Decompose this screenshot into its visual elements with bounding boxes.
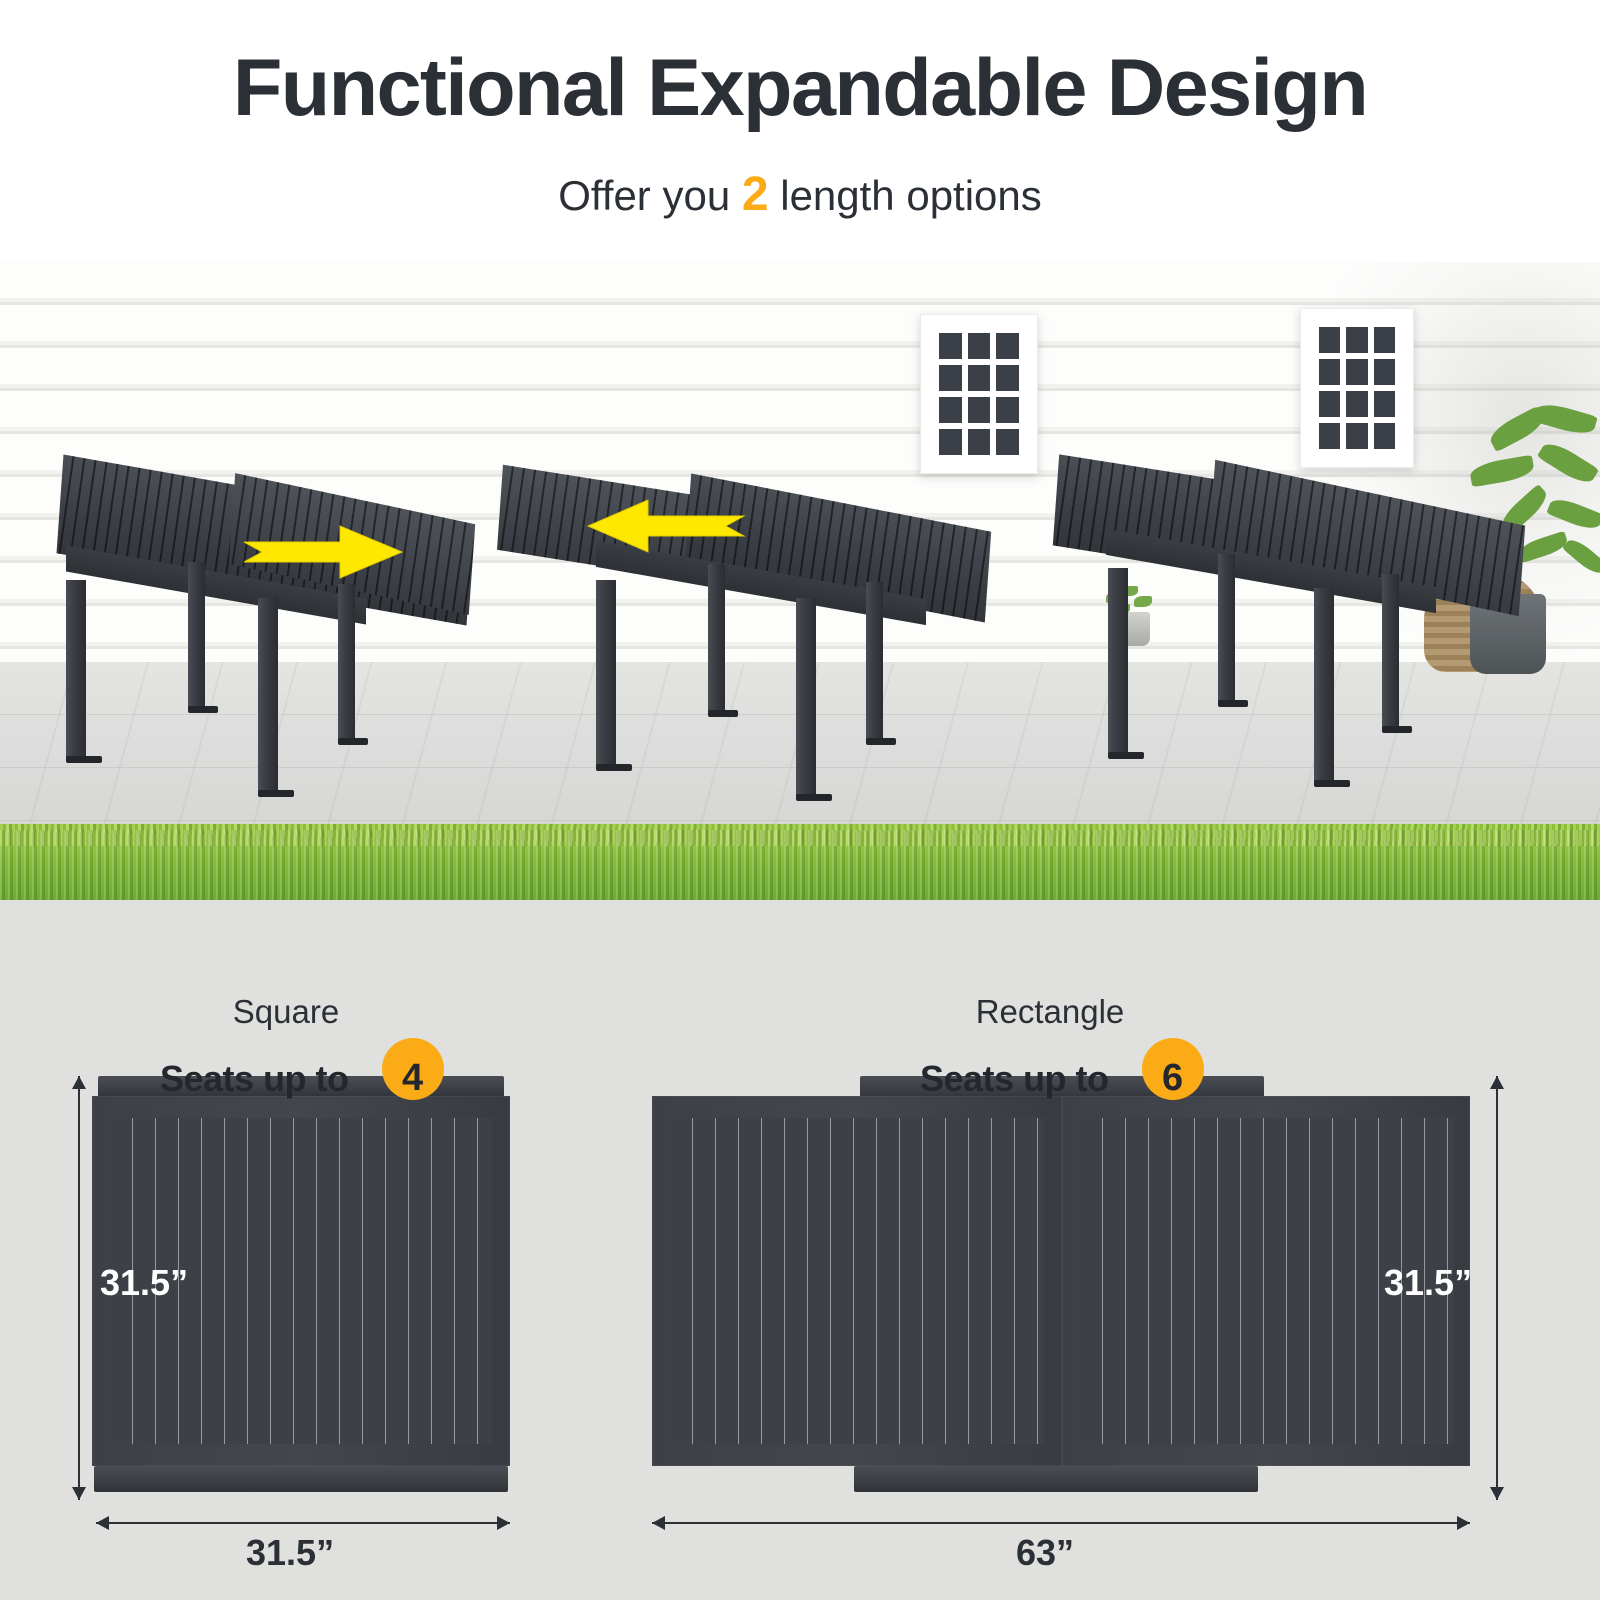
square-depth-arrow (72, 1076, 86, 1500)
infographic-page: Functional Expandable Design Offer you 2… (0, 0, 1600, 1600)
table3-leg-back-right (1382, 574, 1399, 730)
page-subtitle: Offer you 2 length options (0, 170, 1600, 221)
table1-foot-front-right (258, 790, 294, 797)
table2-foot-back-right (866, 738, 896, 745)
table2-leg-back-right (866, 582, 883, 742)
table2-leg-back-left (708, 564, 725, 714)
table2-foot-back-left (708, 710, 738, 717)
square-seats-text: Seats up to (160, 1058, 349, 1099)
table1-leg-back-left (188, 562, 205, 710)
grass-strip (0, 830, 1600, 900)
rectangle-slats-left (670, 1118, 1044, 1444)
rectangle-width-arrow (652, 1516, 1470, 1530)
rectangle-depth-arrow (1490, 1076, 1504, 1500)
rectangle-depth-label: 31.5” (1384, 1262, 1472, 1304)
square-width-arrow (96, 1516, 510, 1530)
table2-foot-front-right (796, 794, 832, 801)
rectangle-width-label: 63” (1016, 1532, 1074, 1574)
subtitle-prefix: Offer you (558, 172, 742, 219)
rectangle-seats-count: 6 (1162, 1057, 1183, 1100)
table1-foot-back-right (338, 738, 368, 745)
table3-foot-back-right (1382, 726, 1412, 733)
product-photo (0, 262, 1600, 900)
arrow-left-icon (586, 496, 746, 558)
table3-leg-front-left (1108, 568, 1128, 756)
square-seats-badge: Seats up to 4 (160, 1058, 349, 1100)
table3-foot-front-right (1314, 780, 1350, 787)
rectangle-tabletop-diagram (652, 1076, 1470, 1500)
rectangle-slat-area-left (670, 1118, 1044, 1444)
dimensions-section: Square Seats up to 4 31.5” 31.5” Rectang… (0, 900, 1600, 1600)
square-depth-label: 31.5” (100, 1262, 188, 1304)
table3-leg-back-left (1218, 554, 1235, 704)
table2-leg-front-left (596, 580, 616, 768)
rectangle-column-label: Rectangle (890, 993, 1210, 1031)
square-seats-count: 4 (402, 1057, 423, 1100)
table1-leg-front-right (258, 598, 278, 794)
window-right-panes (1310, 318, 1404, 458)
square-bottom-rail (94, 1466, 508, 1492)
table3-foot-back-left (1218, 700, 1248, 707)
table2-leg-front-right (796, 598, 816, 798)
rectangle-seats-badge: Seats up to 6 (920, 1058, 1109, 1100)
table3-foot-front-left (1108, 752, 1144, 759)
table3-leg-front-right (1314, 588, 1334, 784)
table1-leg-front-left (66, 580, 86, 760)
table2-foot-front-left (596, 764, 632, 771)
subtitle-highlight-number: 2 (742, 168, 769, 221)
subtitle-suffix: length options (769, 172, 1042, 219)
square-column-label: Square (126, 993, 446, 1031)
table1-leg-back-right (338, 584, 355, 742)
table1-foot-back-left (188, 706, 218, 713)
rectangle-bottom-rail (854, 1466, 1258, 1492)
arrow-right-icon (244, 520, 404, 582)
square-width-label: 31.5” (246, 1532, 334, 1574)
rectangle-seats-text: Seats up to (920, 1058, 1109, 1099)
window-right (1300, 308, 1414, 468)
page-title: Functional Expandable Design (0, 44, 1600, 132)
window-left-panes (930, 324, 1028, 464)
table1-foot-front-left (66, 756, 102, 763)
header-section: Functional Expandable Design Offer you 2… (0, 0, 1600, 262)
window-left (920, 314, 1038, 474)
